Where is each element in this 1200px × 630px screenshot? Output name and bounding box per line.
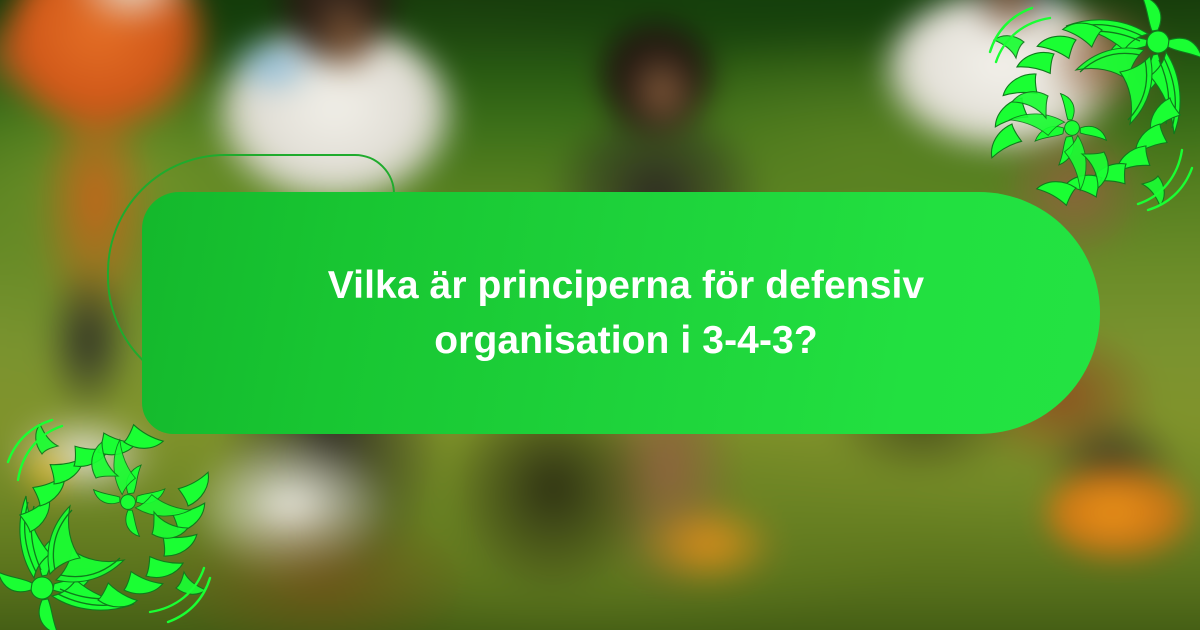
social-card-canvas: Vilka är principerna för defensiv organi… bbox=[0, 0, 1200, 630]
floral-corner-ornament-top-right bbox=[988, 0, 1200, 212]
floral-corner-ornament-bottom-left bbox=[0, 418, 212, 630]
player-two-face bbox=[309, 0, 382, 77]
player-three-face bbox=[625, 52, 700, 135]
player-three-orange-boot bbox=[642, 503, 777, 586]
page-title: Vilka är principerna för defensiv organi… bbox=[316, 258, 936, 369]
hero-question-card: Vilka är principerna för defensiv organi… bbox=[142, 192, 1100, 434]
right-player-orange-boot bbox=[1047, 466, 1193, 560]
